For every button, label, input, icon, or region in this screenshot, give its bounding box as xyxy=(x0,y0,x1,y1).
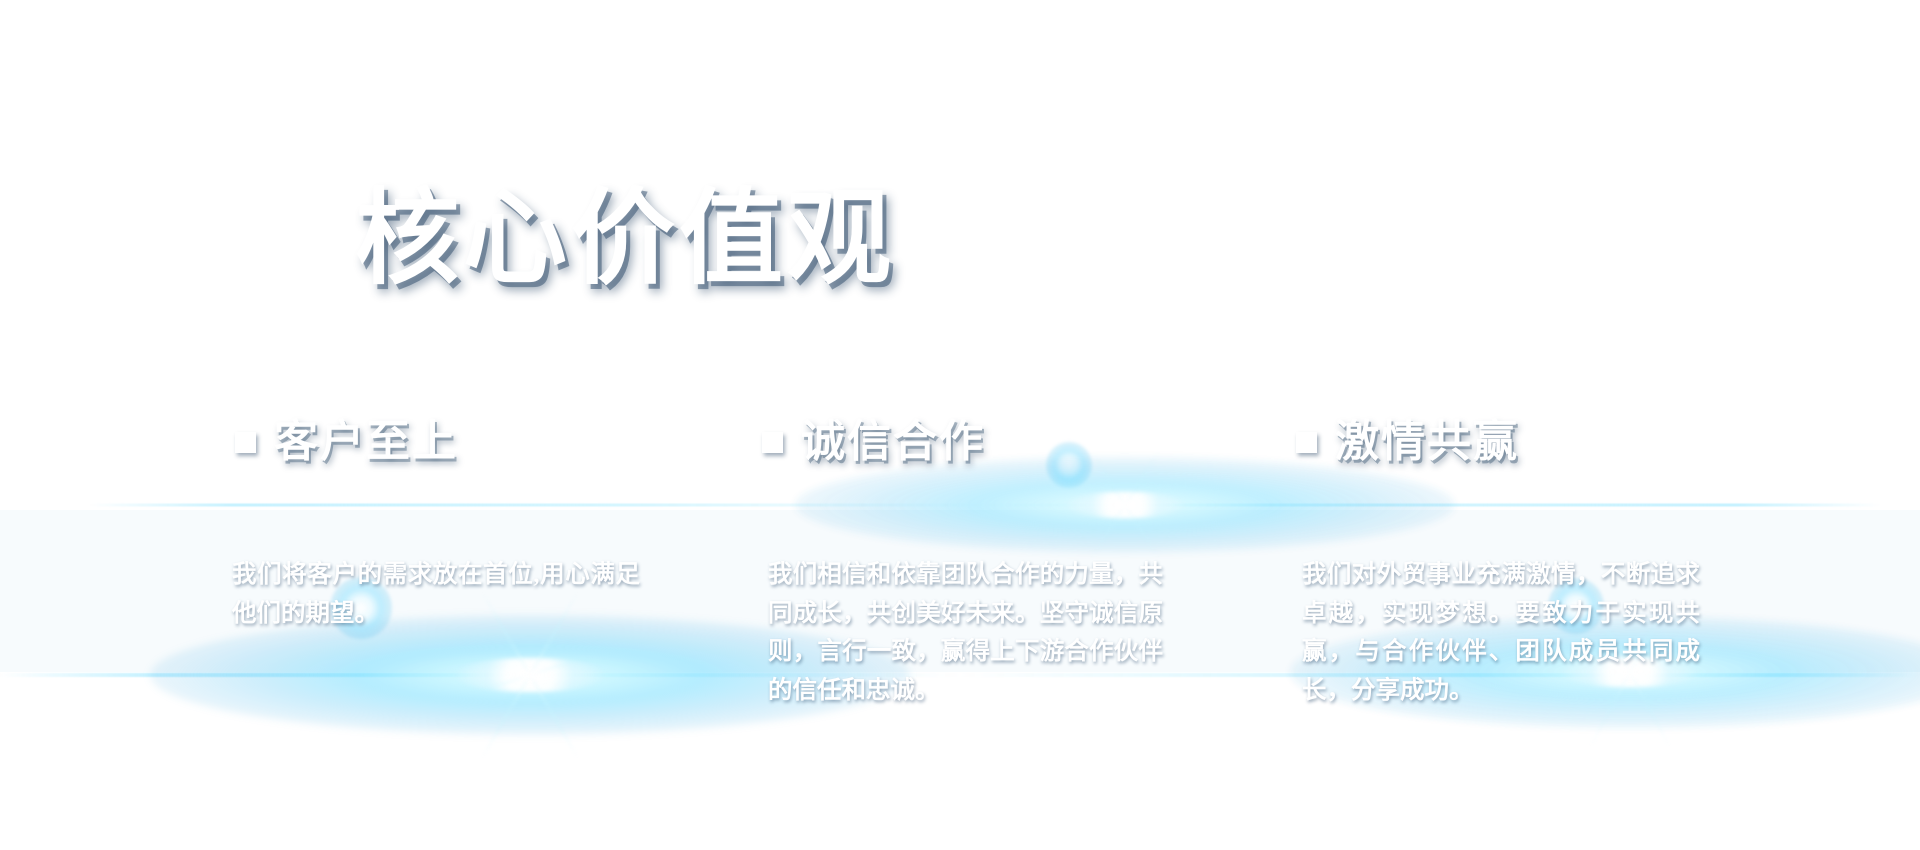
value-column-3: 激情共赢 我们对外贸事业充满激情，不断追求卓越，实现梦想。要致力于实现共赢，与合… xyxy=(1296,420,1700,711)
value-heading-2-label: 诚信合作 xyxy=(801,420,985,464)
value-body-3: 我们对外贸事业充满激情，不断追求卓越，实现梦想。要致力于实现共赢，与合作伙伴、团… xyxy=(1302,556,1700,711)
value-heading-1-label: 客户至上 xyxy=(274,420,458,464)
value-heading-2: 诚信合作 xyxy=(762,420,1163,464)
value-body-2: 我们相信和依靠团队合作的力量，共同成长，共创美好未来。坚守诚信原则，言行一致，赢… xyxy=(768,556,1163,711)
value-heading-1: 客户至上 xyxy=(235,420,640,464)
square-bullet-icon xyxy=(235,432,256,453)
page-title: 核心价值观 xyxy=(0,188,1250,292)
value-heading-3-label: 激情共赢 xyxy=(1335,420,1519,464)
core-values-banner: 核心价值观 客户至上 我们将客户的需求放在首位,用心满足他们的期望。 诚信合作 … xyxy=(0,0,1920,850)
value-column-1: 客户至上 我们将客户的需求放在首位,用心满足他们的期望。 xyxy=(222,420,640,633)
value-body-1: 我们将客户的需求放在首位,用心满足他们的期望。 xyxy=(232,556,640,633)
value-column-2: 诚信合作 我们相信和依靠团队合作的力量，共同成长，共创美好未来。坚守诚信原则，言… xyxy=(762,420,1163,711)
square-bullet-icon xyxy=(762,432,783,453)
square-bullet-icon xyxy=(1296,432,1317,453)
value-heading-3: 激情共赢 xyxy=(1296,420,1700,464)
